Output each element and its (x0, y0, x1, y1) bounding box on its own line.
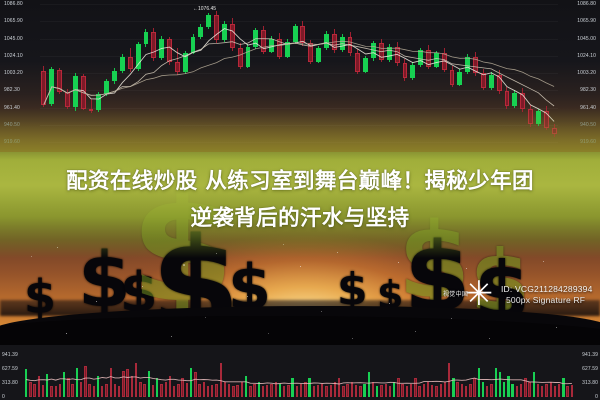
chart-bottom-fade (0, 108, 600, 152)
bokeh-speck (66, 333, 67, 334)
price-axis-tick-label: 1024.10 (4, 53, 23, 59)
price-axis-tick-label: 1065.90 (577, 18, 596, 24)
bokeh-speck (183, 264, 185, 266)
volume-average-path (26, 377, 572, 384)
volume-average-line (0, 345, 600, 400)
price-annotation: ←1076.45 (193, 6, 216, 12)
volume-axis-tick-label: 313.80 (582, 380, 598, 386)
price-axis-tick-label: 1065.90 (4, 18, 23, 24)
price-axis-tick-label: 1003.20 (4, 70, 23, 76)
dollar-sign-silhouette: $ (337, 272, 368, 309)
candlestick-chart: 1086.801065.901045.001024.101003.20982.3… (0, 0, 600, 152)
volume-axis-tick-label: 0 (595, 394, 598, 400)
bokeh-speck (466, 268, 467, 269)
price-axis-tick-label: 1045.00 (577, 36, 596, 42)
dollar-sign-silhouette: $ (24, 278, 56, 317)
bokeh-speck (556, 327, 557, 328)
price-axis-tick-label: 1086.80 (577, 1, 596, 7)
watermark-brand-label: 视觉中国 (443, 289, 468, 298)
watermark: ✳ 视觉中国 ID: VCG211284289394 500px Signatu… (447, 272, 597, 318)
price-axis-tick-label: 982.30 (580, 87, 596, 93)
bokeh-speck (398, 262, 399, 263)
bokeh-speck (415, 331, 416, 332)
volume-axis-tick-label: 941.39 (582, 352, 598, 358)
volume-axis-tick-label: 0 (2, 394, 5, 400)
volume-axis-tick-label: 627.59 (582, 366, 598, 372)
banner-image: $ $ $ $ $ $ $ $ $ $ $ $ 1086.801065.9010… (0, 0, 600, 400)
bokeh-speck (300, 266, 301, 267)
price-axis-tick-label: 982.30 (4, 87, 20, 93)
bokeh-speck (216, 253, 217, 254)
volume-axis-tick-label: 941.39 (2, 352, 18, 358)
watermark-id-label: ID: VCG211284289394 (501, 284, 593, 294)
volume-axis-tick-label: 627.59 (2, 366, 18, 372)
price-axis-tick-label: 1086.80 (4, 1, 23, 7)
volume-axis-tick-label: 313.80 (2, 380, 18, 386)
bokeh-speck (283, 244, 284, 245)
moving-average-line (44, 41, 554, 104)
price-axis-tick-label: 1045.00 (4, 36, 23, 42)
bokeh-speck (171, 336, 172, 337)
volume-chart: 941.39627.59313.800 941.39627.59313.800 (0, 345, 600, 400)
bokeh-speck (142, 286, 143, 287)
watermark-license-label: 500px Signature RF (506, 295, 585, 305)
price-axis-tick-label: 1024.10 (577, 53, 596, 59)
price-axis-tick-label: 1003.20 (577, 70, 596, 76)
